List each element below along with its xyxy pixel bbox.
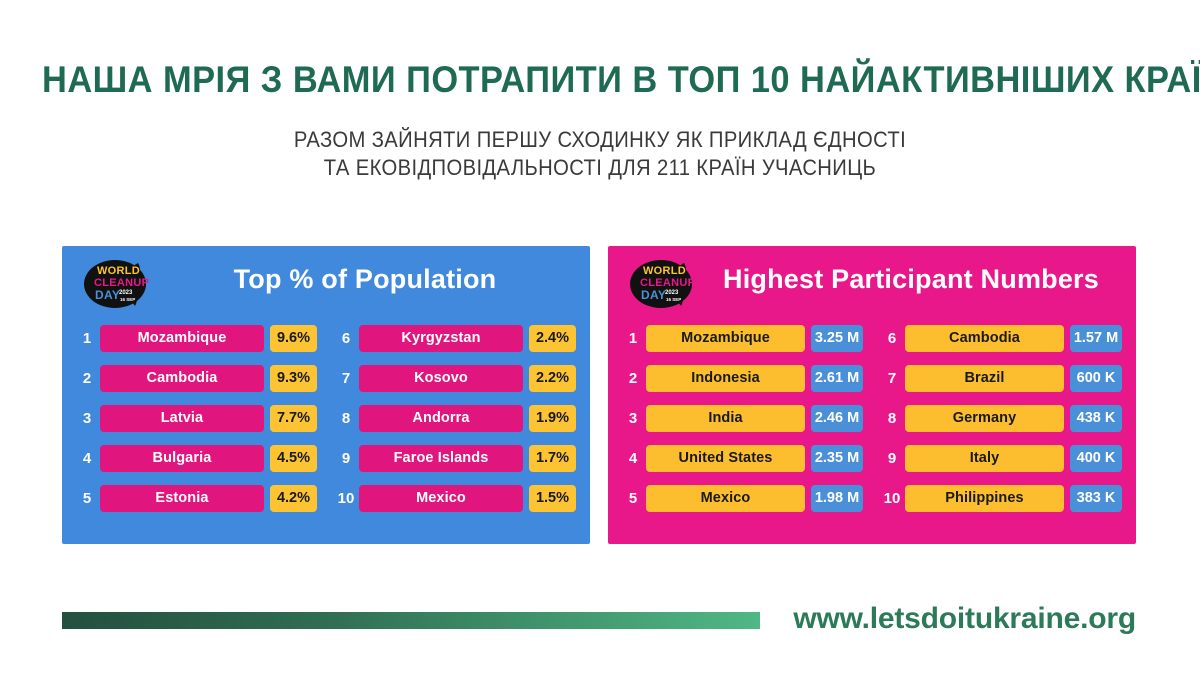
svg-text:WORLD: WORLD <box>643 265 686 277</box>
table-row[interactable]: 8 Andorra 1.9% <box>333 398 576 438</box>
country-name: Estonia <box>100 485 264 512</box>
value-badge: 2.4% <box>529 325 576 352</box>
footer-website-url[interactable]: www.letsdoitukraine.org <box>793 602 1136 636</box>
subtitle-line-1: РАЗОМ ЗАЙНЯТИ ПЕРШУ СХОДИНКУ ЯК ПРИКЛАД … <box>48 126 1152 154</box>
rank-number: 9 <box>333 451 359 466</box>
country-name: India <box>646 405 805 432</box>
country-name: Philippines <box>905 485 1064 512</box>
table-row[interactable]: 6 Kyrgyzstan 2.4% <box>333 318 576 358</box>
rank-number: 8 <box>879 411 905 426</box>
svg-text:DAY: DAY <box>641 288 666 302</box>
panel-columns: 1 Mozambique 3.25 M 2 Indonesia 2.61 M 3… <box>608 318 1136 518</box>
page-title: НАША МРІЯ З ВАМИ ПОТРАПИТИ В ТОП 10 НАЙА… <box>42 58 1158 102</box>
table-row[interactable]: 5 Estonia 4.2% <box>74 478 317 518</box>
ranking-column-6-to-10: 6 Cambodia 1.57 M 7 Brazil 600 K 8 Germa… <box>873 318 1136 518</box>
value-badge: 4.2% <box>270 485 317 512</box>
footer-gradient-bar <box>62 612 760 629</box>
country-name: Faroe Islands <box>359 445 523 472</box>
rank-number: 2 <box>620 371 646 386</box>
country-name: Cambodia <box>100 365 264 392</box>
country-name: Kyrgyzstan <box>359 325 523 352</box>
country-name: Italy <box>905 445 1064 472</box>
country-name: Mexico <box>359 485 523 512</box>
table-row[interactable]: 4 United States 2.35 M <box>620 438 863 478</box>
value-badge: 1.98 M <box>811 485 863 512</box>
svg-text:2023: 2023 <box>665 290 679 296</box>
rank-number: 1 <box>620 331 646 346</box>
rank-number: 4 <box>620 451 646 466</box>
country-name: Brazil <box>905 365 1064 392</box>
value-badge: 4.5% <box>270 445 317 472</box>
value-badge: 9.3% <box>270 365 317 392</box>
ranking-column-6-to-10: 6 Kyrgyzstan 2.4% 7 Kosovo 2.2% 8 Andorr… <box>327 318 590 518</box>
table-row[interactable]: 4 Bulgaria 4.5% <box>74 438 317 478</box>
country-name: Indonesia <box>646 365 805 392</box>
rank-number: 3 <box>74 411 100 426</box>
rank-number: 2 <box>74 371 100 386</box>
panel-header: WORLD CLEANUP DAY 2023 16 SEP Top % of P… <box>62 246 590 320</box>
panel-columns: 1 Mozambique 9.6% 2 Cambodia 9.3% 3 Latv… <box>62 318 590 518</box>
page-subtitle: РАЗОМ ЗАЙНЯТИ ПЕРШУ СХОДИНКУ ЯК ПРИКЛАД … <box>48 126 1152 182</box>
rank-number: 7 <box>879 371 905 386</box>
svg-text:DAY: DAY <box>95 288 120 302</box>
world-cleanup-day-logo-icon: WORLD CLEANUP DAY 2023 16 SEP <box>82 255 158 313</box>
ranking-column-1-to-5: 1 Mozambique 9.6% 2 Cambodia 9.3% 3 Latv… <box>62 318 327 518</box>
table-row[interactable]: 10 Philippines 383 K <box>879 478 1122 518</box>
table-row[interactable]: 8 Germany 438 K <box>879 398 1122 438</box>
country-name: Bulgaria <box>100 445 264 472</box>
table-row[interactable]: 6 Cambodia 1.57 M <box>879 318 1122 358</box>
panel-title: Top % of Population <box>150 264 580 295</box>
country-name: Mozambique <box>646 325 805 352</box>
country-name: Andorra <box>359 405 523 432</box>
table-row[interactable]: 3 Latvia 7.7% <box>74 398 317 438</box>
value-badge: 1.5% <box>529 485 576 512</box>
table-row[interactable]: 3 India 2.46 M <box>620 398 863 438</box>
value-badge: 2.61 M <box>811 365 863 392</box>
rank-number: 4 <box>74 451 100 466</box>
ranking-column-1-to-5: 1 Mozambique 3.25 M 2 Indonesia 2.61 M 3… <box>608 318 873 518</box>
value-badge: 600 K <box>1070 365 1122 392</box>
table-row[interactable]: 9 Italy 400 K <box>879 438 1122 478</box>
rank-number: 8 <box>333 411 359 426</box>
rank-number: 1 <box>74 331 100 346</box>
table-row[interactable]: 7 Kosovo 2.2% <box>333 358 576 398</box>
country-name: Germany <box>905 405 1064 432</box>
panel-highest-participant-numbers: WORLD CLEANUP DAY 2023 16 SEP Highest Pa… <box>608 246 1136 544</box>
rank-number: 3 <box>620 411 646 426</box>
table-row[interactable]: 10 Mexico 1.5% <box>333 478 576 518</box>
rank-number: 10 <box>333 491 359 506</box>
table-row[interactable]: 2 Indonesia 2.61 M <box>620 358 863 398</box>
value-badge: 9.6% <box>270 325 317 352</box>
rank-number: 10 <box>879 491 905 506</box>
value-badge: 2.46 M <box>811 405 863 432</box>
table-row[interactable]: 2 Cambodia 9.3% <box>74 358 317 398</box>
rank-number: 9 <box>879 451 905 466</box>
table-row[interactable]: 5 Mexico 1.98 M <box>620 478 863 518</box>
value-badge: 383 K <box>1070 485 1122 512</box>
country-name: Latvia <box>100 405 264 432</box>
table-row[interactable]: 1 Mozambique 3.25 M <box>620 318 863 358</box>
svg-text:2023: 2023 <box>119 290 133 296</box>
value-badge: 1.7% <box>529 445 576 472</box>
country-name: United States <box>646 445 805 472</box>
value-badge: 1.57 M <box>1070 325 1122 352</box>
value-badge: 2.2% <box>529 365 576 392</box>
country-name: Mexico <box>646 485 805 512</box>
country-name: Cambodia <box>905 325 1064 352</box>
panel-top-percent-of-population: WORLD CLEANUP DAY 2023 16 SEP Top % of P… <box>62 246 590 544</box>
panel-title: Highest Participant Numbers <box>696 264 1126 295</box>
table-row[interactable]: 9 Faroe Islands 1.7% <box>333 438 576 478</box>
subtitle-line-2: ТА ЕКОВІДПОВІДАЛЬНОСТІ ДЛЯ 211 КРАЇН УЧА… <box>48 154 1152 182</box>
svg-text:16 SEP: 16 SEP <box>120 297 135 302</box>
world-cleanup-day-logo-icon: WORLD CLEANUP DAY 2023 16 SEP <box>628 255 704 313</box>
rank-number: 6 <box>879 331 905 346</box>
table-row[interactable]: 7 Brazil 600 K <box>879 358 1122 398</box>
value-badge: 7.7% <box>270 405 317 432</box>
svg-text:16 SEP: 16 SEP <box>666 297 681 302</box>
country-name: Kosovo <box>359 365 523 392</box>
rank-number: 5 <box>620 491 646 506</box>
value-badge: 438 K <box>1070 405 1122 432</box>
country-name: Mozambique <box>100 325 264 352</box>
rank-number: 5 <box>74 491 100 506</box>
rank-number: 6 <box>333 331 359 346</box>
value-badge: 1.9% <box>529 405 576 432</box>
value-badge: 2.35 M <box>811 445 863 472</box>
value-badge: 400 K <box>1070 445 1122 472</box>
value-badge: 3.25 M <box>811 325 863 352</box>
rank-number: 7 <box>333 371 359 386</box>
table-row[interactable]: 1 Mozambique 9.6% <box>74 318 317 358</box>
panel-header: WORLD CLEANUP DAY 2023 16 SEP Highest Pa… <box>608 246 1136 320</box>
svg-text:WORLD: WORLD <box>97 265 140 277</box>
